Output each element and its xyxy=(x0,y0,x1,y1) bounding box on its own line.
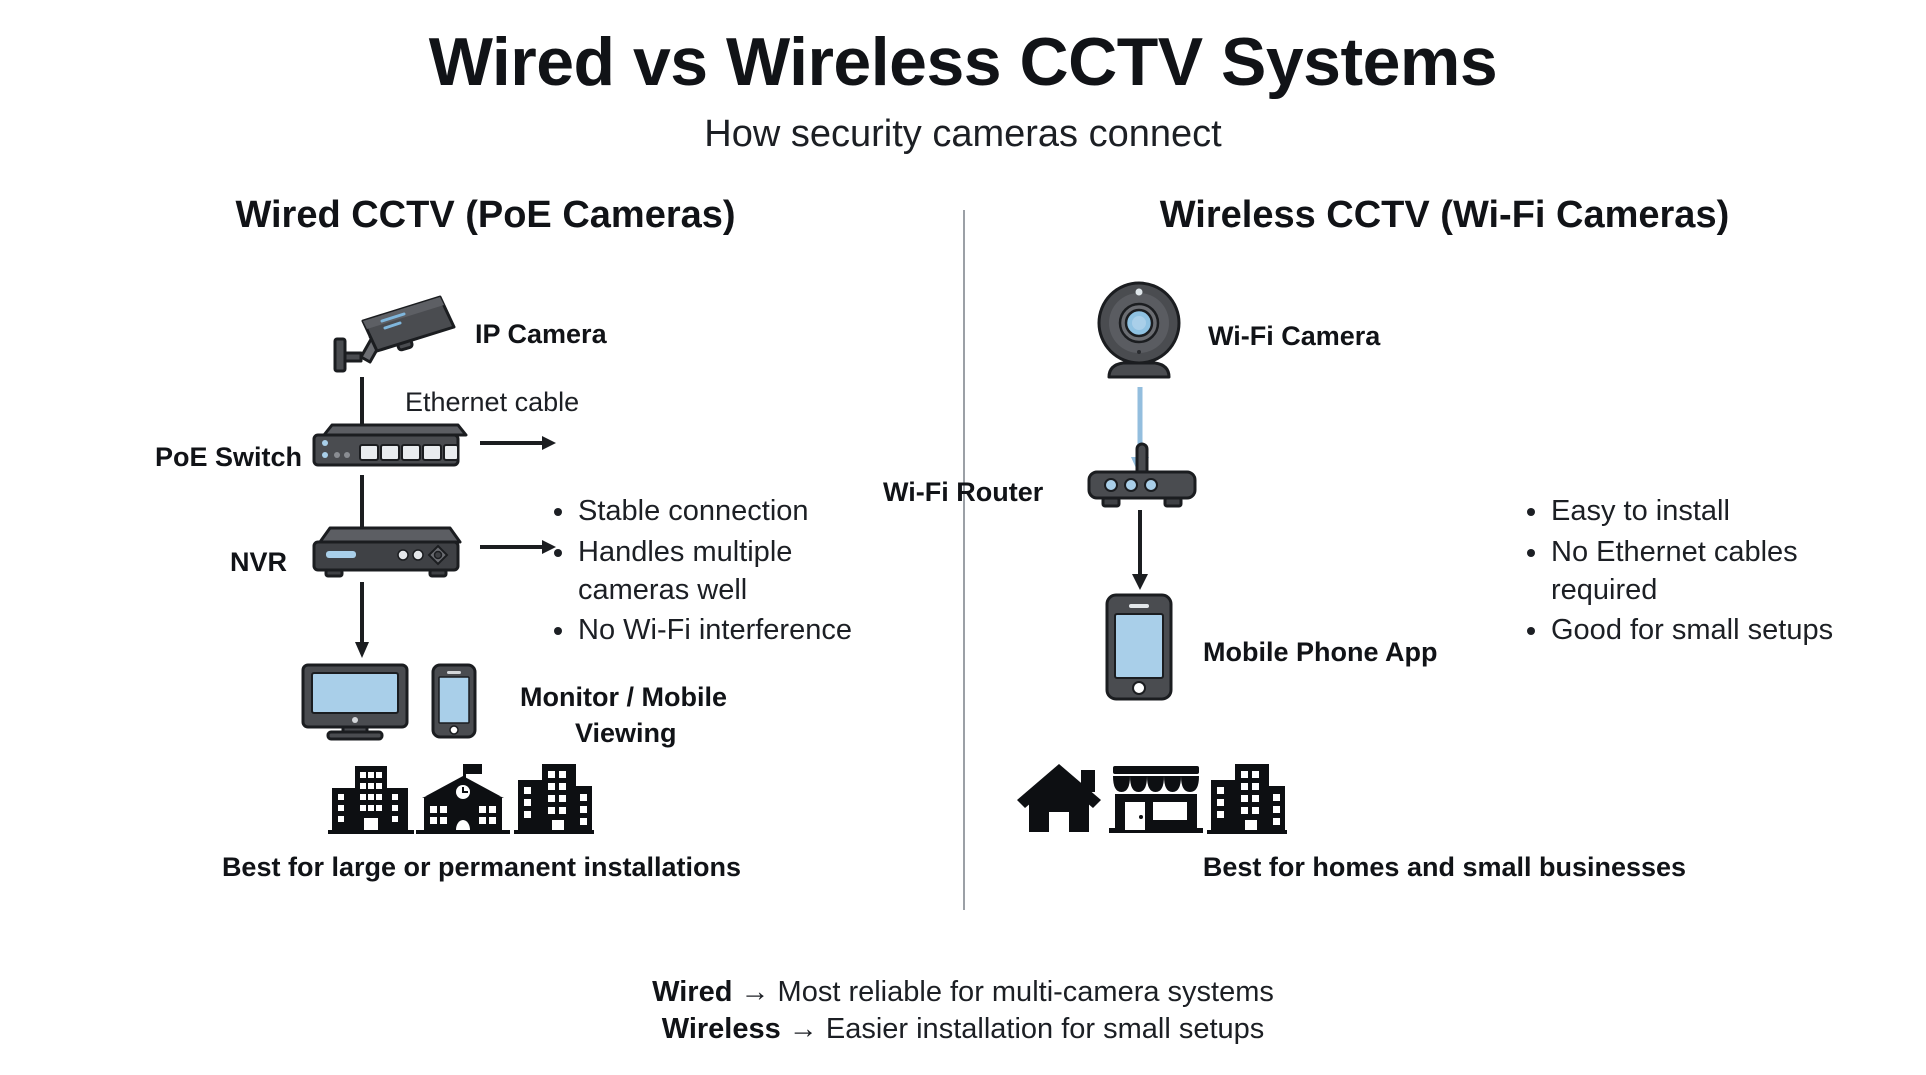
apartment-block-icon xyxy=(514,764,594,834)
footer-wired-arrow-icon: → xyxy=(740,976,769,1008)
wired-caption: Best for large or permanent installation… xyxy=(0,852,963,883)
wifi-camera-node[interactable] xyxy=(1093,279,1185,383)
viewing-label-line2: Viewing xyxy=(575,718,677,749)
footer-line-wired: Wired → Most reliable for multi-camera s… xyxy=(0,974,1926,1012)
list-item: Easy to install xyxy=(1523,492,1883,530)
wired-column-title: Wired CCTV (PoE Cameras) xyxy=(0,194,963,237)
footer-wireless-text: Easier installation for small setups xyxy=(826,1013,1264,1045)
footer-wired-label: Wired xyxy=(652,976,732,1008)
poe-switch-label: PoE Switch xyxy=(155,442,302,473)
viewing-label-line1: Monitor / Mobile xyxy=(520,682,727,713)
footer-summary: Wired → Most reliable for multi-camera s… xyxy=(0,974,1926,1049)
school-building-icon xyxy=(416,764,510,834)
nvr-recorder-icon xyxy=(310,522,470,582)
ip-camera-label: IP Camera xyxy=(475,319,607,350)
wireless-column-title: Wireless CCTV (Wi-Fi Cameras) xyxy=(963,194,1926,237)
office-tower-icon xyxy=(328,766,414,834)
list-item: Handles multiple cameras well xyxy=(550,533,880,610)
wired-benefits-arrow xyxy=(480,433,558,453)
list-item: Good for small setups xyxy=(1523,611,1883,649)
wifi-router-label: Wi-Fi Router xyxy=(883,477,1043,508)
mobile-app-label: Mobile Phone App xyxy=(1203,637,1437,668)
wired-column: Wired CCTV (PoE Cameras) xyxy=(0,194,963,894)
ethernet-cable-label: Ethernet cable xyxy=(405,387,579,418)
apartment-block-icon xyxy=(1207,764,1287,834)
wifi-router-icon xyxy=(1083,442,1201,512)
bullet-cctv-camera-icon xyxy=(330,287,460,377)
page-title: Wired vs Wireless CCTV Systems xyxy=(0,26,1926,99)
poe-switch-icon xyxy=(310,419,470,475)
wired-benefits-list: Stable connection Handles multiple camer… xyxy=(550,492,880,651)
footer-line-wireless: Wireless → Easier installation for small… xyxy=(0,1011,1926,1049)
wireless-caption: Best for homes and small businesses xyxy=(963,852,1926,883)
smartphone-icon xyxy=(430,662,478,740)
desktop-monitor-icon xyxy=(300,662,410,740)
mobile-app-node[interactable] xyxy=(1103,592,1175,702)
list-item: No Wi-Fi interference xyxy=(550,611,880,649)
router-to-phone-arrow xyxy=(1131,510,1149,592)
mobile-phone-node[interactable] xyxy=(430,662,478,740)
nvr-benefits-arrow xyxy=(480,537,558,557)
wifi-camera-label: Wi-Fi Camera xyxy=(1208,321,1380,352)
list-item: No Ethernet cables required xyxy=(1523,533,1883,610)
nvr-node[interactable] xyxy=(310,522,470,582)
ip-camera-node[interactable] xyxy=(330,287,460,377)
wireless-diagram: Wi-Fi Camera Wi-Fi Router xyxy=(963,237,1926,857)
comparison-columns: Wired CCTV (PoE Cameras) xyxy=(0,194,1926,894)
wireless-benefits-list: Easy to install No Ethernet cables requi… xyxy=(1523,492,1883,651)
smartphone-app-icon xyxy=(1103,592,1175,702)
wired-diagram: IP Camera Ethernet cable PoE Switch xyxy=(0,237,963,857)
nvr-label: NVR xyxy=(230,547,287,578)
wifi-router-node[interactable] xyxy=(1083,442,1201,512)
page-header: Wired vs Wireless CCTV Systems How secur… xyxy=(0,0,1926,156)
footer-wireless-label: Wireless xyxy=(662,1013,781,1045)
wired-use-case-icons xyxy=(320,762,600,834)
page-subtitle: How security cameras connect xyxy=(0,113,1926,156)
list-item: Stable connection xyxy=(550,492,880,530)
monitor-node[interactable] xyxy=(300,662,410,740)
house-icon xyxy=(1017,764,1101,832)
wireless-column: Wireless CCTV (Wi-Fi Cameras) xyxy=(963,194,1926,894)
footer-wireless-arrow-icon: → xyxy=(789,1013,818,1045)
shop-storefront-icon xyxy=(1109,766,1203,833)
nvr-to-viewing-arrow xyxy=(355,582,369,660)
footer-wired-text: Most reliable for multi-camera systems xyxy=(778,976,1274,1008)
poe-switch-node[interactable] xyxy=(310,419,470,475)
round-wifi-camera-icon xyxy=(1093,279,1185,383)
wireless-use-case-icons xyxy=(1013,762,1293,834)
